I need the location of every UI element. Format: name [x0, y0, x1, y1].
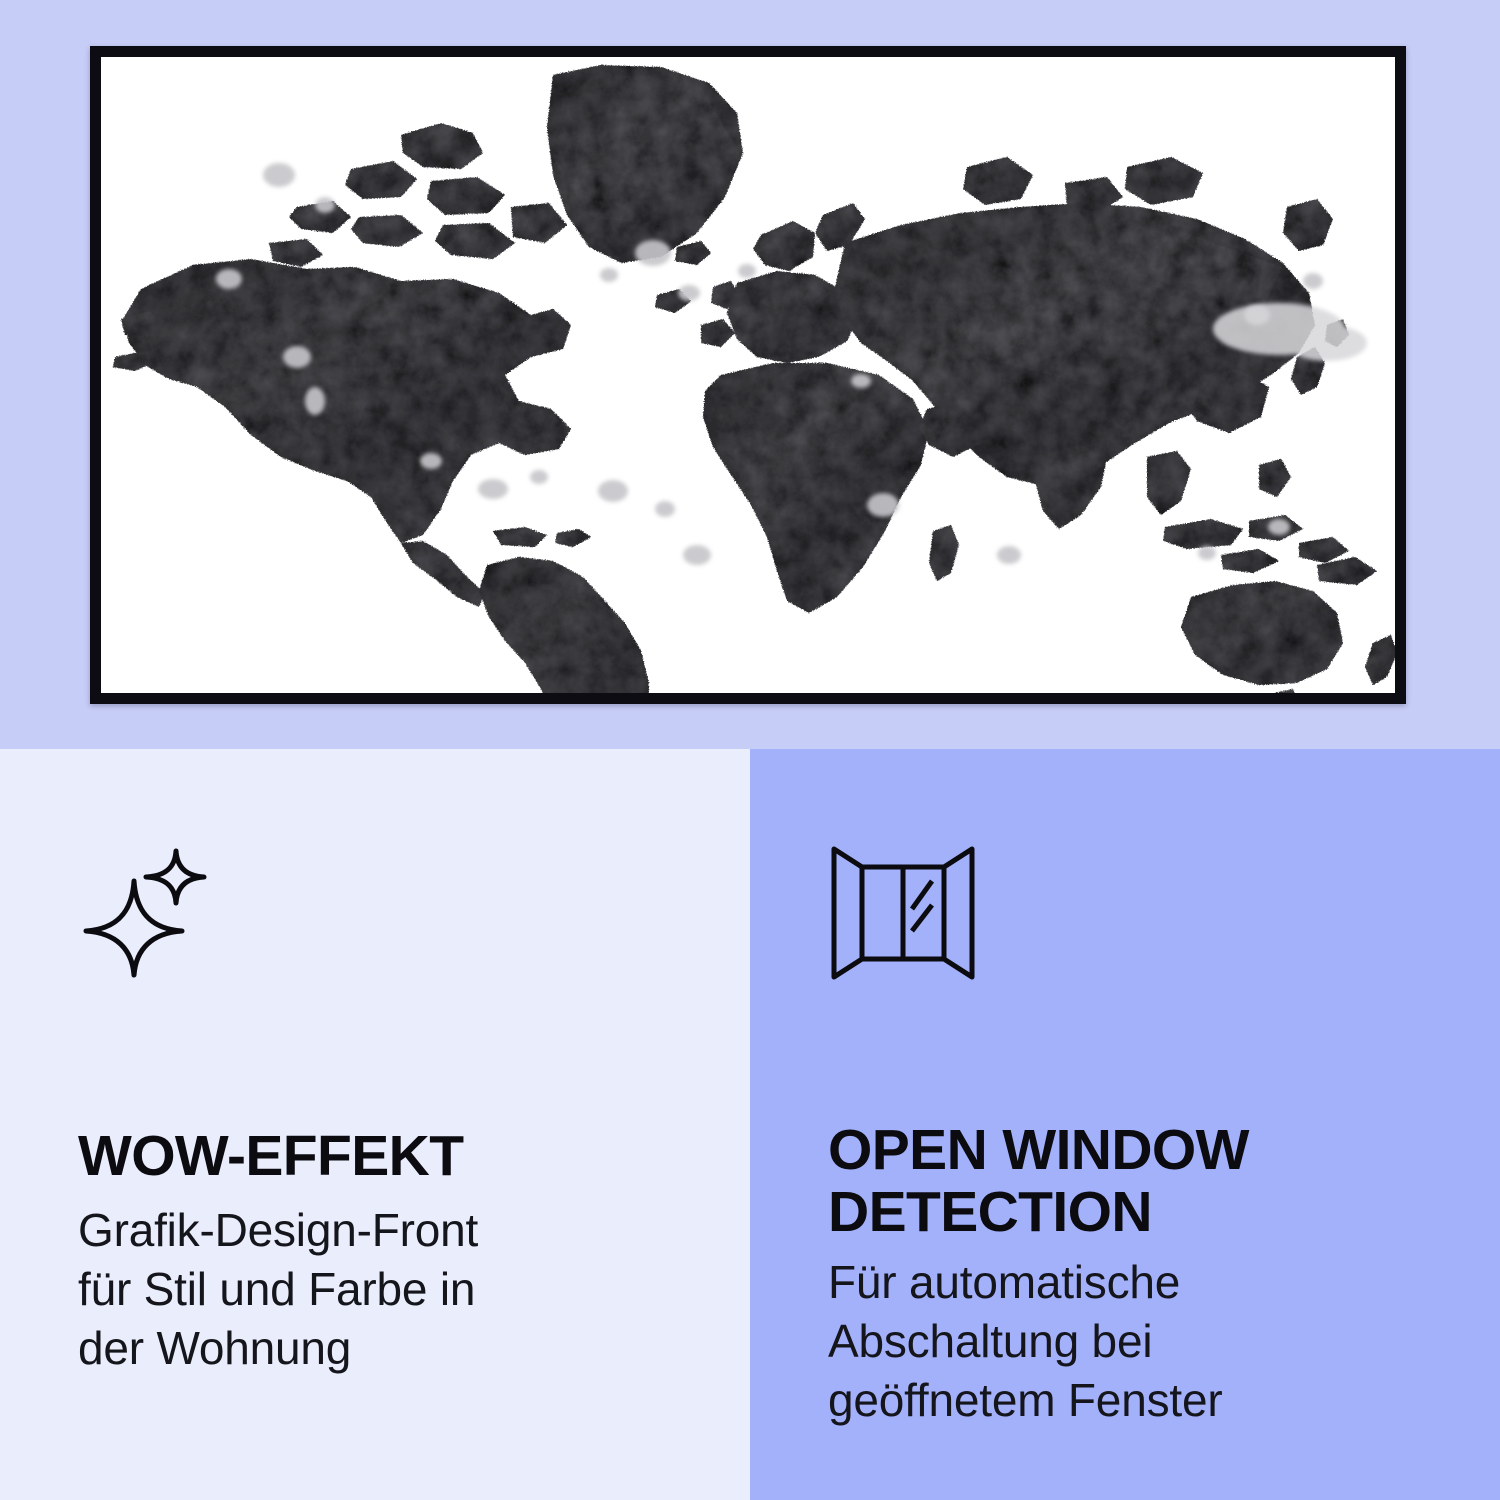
features-section: WOW-EFFEKT Grafik-Design-Front für Stil … — [0, 749, 1500, 1500]
open-window-icon — [828, 843, 978, 983]
feature-panel-wow-effekt: WOW-EFFEKT Grafik-Design-Front für Stil … — [0, 749, 750, 1500]
world-map-illustration — [101, 57, 1395, 693]
product-feature-page: WOW-EFFEKT Grafik-Design-Front für Stil … — [0, 0, 1500, 1500]
feature-body: Grafik-Design-Front für Stil und Farbe i… — [78, 1201, 548, 1378]
picture-frame — [90, 46, 1406, 704]
hero-section — [0, 0, 1500, 749]
feature-heading: WOW-EFFEKT — [78, 1125, 750, 1187]
feature-heading: OPEN WINDOW DETECTION — [828, 1119, 1298, 1243]
feature-body: Für automatische Abschaltung bei geöffne… — [828, 1253, 1328, 1430]
sparkle-icon — [78, 847, 210, 979]
feature-panel-open-window-detection: OPEN WINDOW DETECTION Für automatische A… — [750, 749, 1500, 1500]
frame-canvas — [101, 57, 1395, 693]
